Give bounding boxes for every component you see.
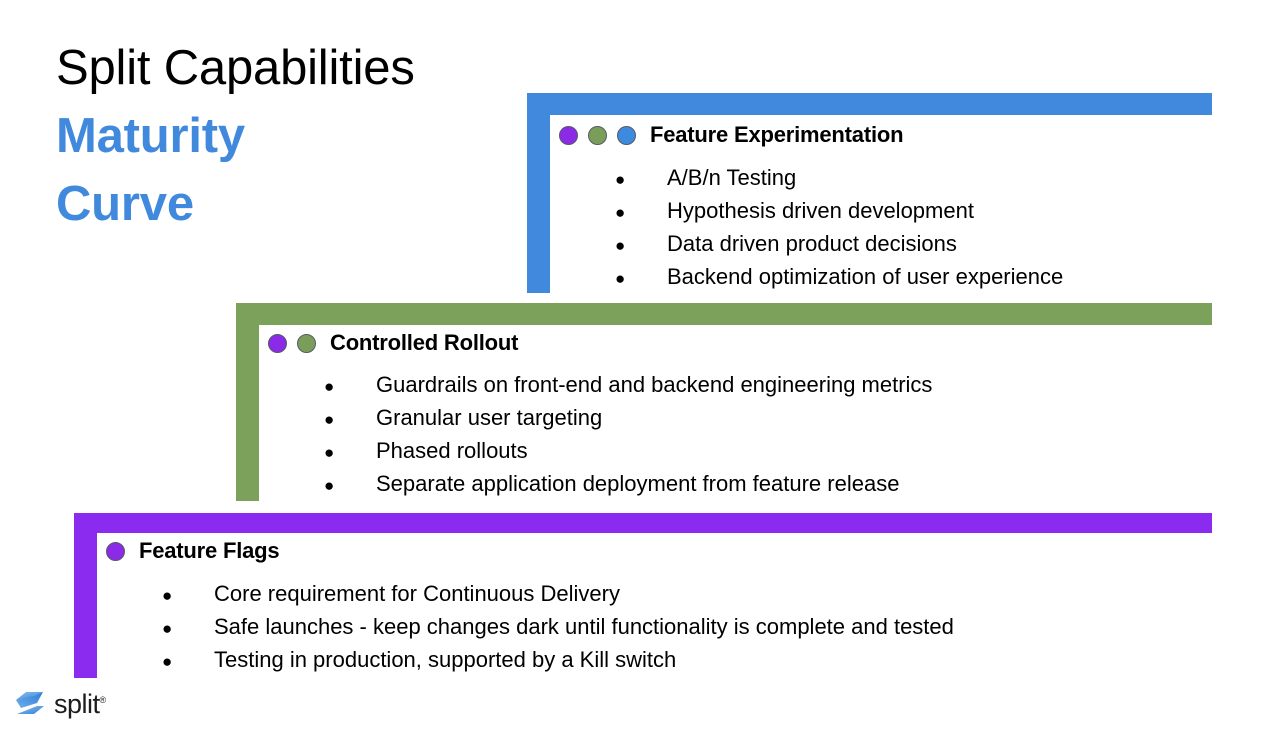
bullet-text: Hypothesis driven development: [667, 195, 974, 226]
bullet-text: Guardrails on front-end and backend engi…: [376, 369, 932, 400]
split-logo: split®: [14, 687, 106, 719]
tier-title: Feature Flags: [139, 538, 279, 564]
bullet-text: Backend optimization of user experience: [667, 261, 1063, 292]
page-title: Split Capabilities Maturity Curve: [56, 34, 526, 238]
bullet-glyph-icon: ●: [162, 613, 214, 644]
split-wordmark-text: split: [54, 689, 100, 719]
bullet-text: Core requirement for Continuous Delivery: [214, 578, 620, 609]
tier-dot-group: [268, 334, 326, 353]
bullet-glyph-icon: ●: [162, 580, 214, 611]
list-item: ● Guardrails on front-end and backend en…: [324, 369, 1221, 402]
maturity-dot-blue-icon: [617, 126, 636, 145]
tier-feature-experimentation: Feature Experimentation ● A/B/n Testing …: [527, 93, 1212, 293]
bullet-glyph-icon: ●: [615, 197, 667, 228]
tier-header: Controlled Rollout: [268, 330, 1221, 356]
bullet-glyph-icon: ●: [162, 646, 214, 677]
bullet-glyph-icon: ●: [324, 437, 376, 468]
list-item: ● Backend optimization of user experienc…: [615, 261, 1221, 294]
tier-bar-top: [74, 513, 1212, 533]
bullet-glyph-icon: ●: [615, 164, 667, 195]
list-item: ● Testing in production, supported by a …: [162, 644, 1221, 677]
tier-bar-left: [527, 93, 550, 293]
maturity-dot-purple-icon: [559, 126, 578, 145]
tier-header: Feature Flags: [106, 538, 1221, 564]
tier-bar-top: [236, 303, 1212, 325]
split-logo-icon: [14, 687, 46, 719]
bullet-glyph-icon: ●: [615, 230, 667, 261]
title-line-3: Curve: [56, 170, 526, 238]
tier-bar-left: [74, 513, 97, 678]
maturity-dot-green-icon: [297, 334, 316, 353]
list-item: ● Data driven product decisions: [615, 228, 1221, 261]
tier-body: Feature Experimentation ● A/B/n Testing …: [550, 115, 1221, 294]
slide-canvas: Split Capabilities Maturity Curve Featur…: [0, 0, 1262, 735]
bullet-text: Safe launches - keep changes dark until …: [214, 611, 954, 642]
bullet-glyph-icon: ●: [324, 404, 376, 435]
trademark-icon: ®: [100, 695, 106, 705]
list-item: ● A/B/n Testing: [615, 162, 1221, 195]
tier-body: Controlled Rollout ● Guardrails on front…: [259, 325, 1221, 501]
tier-bullet-list: ● Guardrails on front-end and backend en…: [268, 369, 1221, 501]
tier-bullet-list: ● Core requirement for Continuous Delive…: [106, 578, 1221, 677]
title-line-1: Split Capabilities: [56, 34, 526, 102]
maturity-dot-green-icon: [588, 126, 607, 145]
maturity-dot-purple-icon: [268, 334, 287, 353]
split-wordmark: split®: [54, 691, 106, 718]
list-item: ● Granular user targeting: [324, 402, 1221, 435]
list-item: ● Separate application deployment from f…: [324, 468, 1221, 501]
tier-bar-left: [236, 303, 259, 501]
bullet-text: Testing in production, supported by a Ki…: [214, 644, 676, 675]
bullet-text: Granular user targeting: [376, 402, 602, 433]
list-item: ● Safe launches - keep changes dark unti…: [162, 611, 1221, 644]
bullet-glyph-icon: ●: [324, 470, 376, 501]
list-item: ● Hypothesis driven development: [615, 195, 1221, 228]
tier-controlled-rollout: Controlled Rollout ● Guardrails on front…: [236, 303, 1212, 501]
bullet-text: A/B/n Testing: [667, 162, 796, 193]
tier-body: Feature Flags ● Core requirement for Con…: [97, 533, 1221, 677]
tier-title: Feature Experimentation: [650, 122, 903, 148]
tier-dot-group: [559, 126, 646, 145]
tier-feature-flags: Feature Flags ● Core requirement for Con…: [74, 513, 1212, 678]
tier-title: Controlled Rollout: [330, 330, 518, 356]
list-item: ● Phased rollouts: [324, 435, 1221, 468]
list-item: ● Core requirement for Continuous Delive…: [162, 578, 1221, 611]
bullet-glyph-icon: ●: [324, 371, 376, 402]
bullet-glyph-icon: ●: [615, 263, 667, 294]
bullet-text: Phased rollouts: [376, 435, 528, 466]
title-line-2: Maturity: [56, 102, 526, 170]
tier-header: Feature Experimentation: [559, 122, 1221, 148]
bullet-text: Separate application deployment from fea…: [376, 468, 899, 499]
tier-bullet-list: ● A/B/n Testing ● Hypothesis driven deve…: [559, 162, 1221, 294]
tier-dot-group: [106, 542, 135, 561]
maturity-dot-purple-icon: [106, 542, 125, 561]
tier-bar-top: [527, 93, 1212, 115]
bullet-text: Data driven product decisions: [667, 228, 957, 259]
